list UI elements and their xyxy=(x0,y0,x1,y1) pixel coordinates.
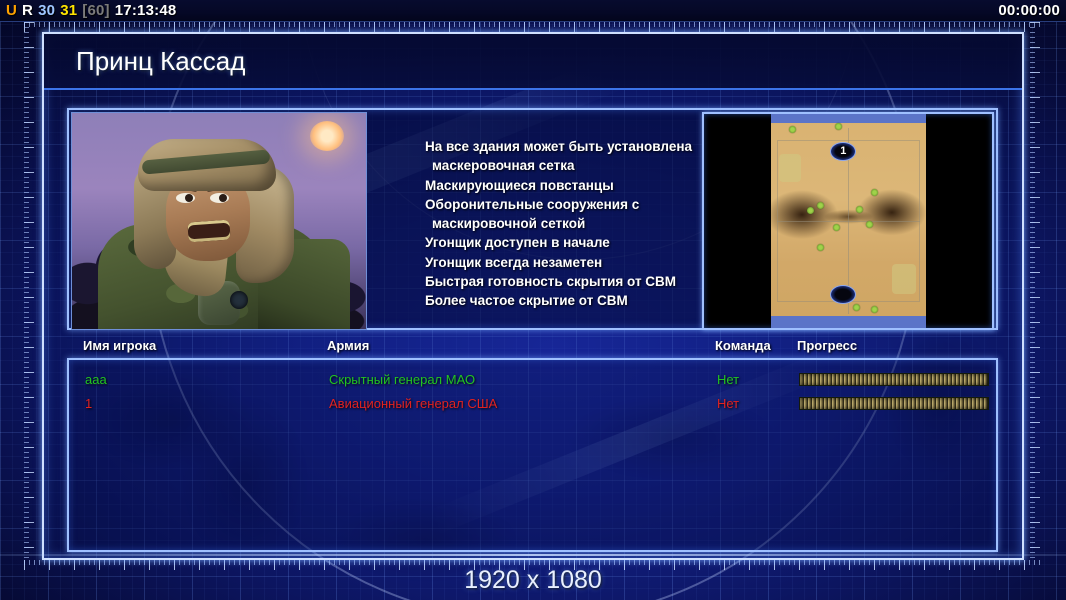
minimap-patch-1 xyxy=(779,154,801,182)
player-team[interactable]: Нет xyxy=(717,368,739,392)
description-line: Более частое скрытие от СВМ xyxy=(425,291,702,310)
game-lobby-screen: UR 30 31 [60] 17:13:48 00:00:00 Принц Ка… xyxy=(0,0,1066,600)
minimap-tree xyxy=(807,207,814,214)
player-army[interactable]: Скрытный генерал МАО xyxy=(329,368,475,392)
status-bar: UR 30 31 [60] 17:13:48 00:00:00 xyxy=(0,0,1066,22)
minimap-tree xyxy=(871,189,878,196)
general-portrait xyxy=(71,112,367,330)
player-team[interactable]: Нет xyxy=(717,392,739,416)
match-timer-group: 00:00:00 xyxy=(998,2,1060,19)
eye-right xyxy=(210,193,229,203)
player-army[interactable]: Авиационный генерал США xyxy=(329,392,497,416)
label-u: U xyxy=(6,2,17,19)
description-line: Быстрая готовность скрытия от СВМ xyxy=(425,272,702,291)
description-line: Угонщик доступен в начале xyxy=(425,233,702,252)
general-info-panel: На все здания может быть установленамаск… xyxy=(67,108,998,330)
system-clock: 17:13:48 xyxy=(115,2,177,19)
description-line: Угонщик всегда незаметен xyxy=(425,253,702,272)
ruler-left xyxy=(24,22,36,562)
table-row[interactable]: aaaСкрытный генерал МАОНет xyxy=(69,368,996,392)
pupil-right xyxy=(219,194,227,202)
minimap-road-horizontal xyxy=(777,221,920,222)
performance-readout: UR 30 31 [60] 17:13:48 xyxy=(6,2,176,19)
description-line: маскировочной сеткой xyxy=(425,214,702,233)
player-progress-bar xyxy=(799,397,989,410)
description-line: маскеровочная сетка xyxy=(425,156,702,175)
mouth xyxy=(187,220,230,243)
description-line: На все здания может быть установлена xyxy=(425,137,702,156)
column-header-progress: Прогресс xyxy=(797,338,857,353)
minimap-tree xyxy=(817,244,824,251)
minimap-tree xyxy=(856,206,863,213)
minimap-patch-2 xyxy=(892,264,916,294)
label-r: R xyxy=(22,2,33,19)
description-line: Оборонительные сооружения с xyxy=(425,195,702,214)
match-timer: 00:00:00 xyxy=(998,2,1060,19)
minimap-tree xyxy=(853,304,860,311)
sun-decor xyxy=(310,121,344,151)
ruler-right xyxy=(1030,22,1042,562)
page-title: Принц Кассад xyxy=(44,46,245,77)
eye-left xyxy=(176,193,195,203)
player-table-header: Имя игрока Армия Команда Прогресс xyxy=(67,338,998,358)
player-name: 1 xyxy=(85,392,92,416)
minimap-start-position[interactable]: 1 xyxy=(830,142,856,161)
player-table-body: aaaСкрытный генерал МАОНет1Авиационный г… xyxy=(67,358,998,552)
title-bar: Принц Кассад xyxy=(44,34,1022,90)
table-row[interactable]: 1Авиационный генерал СШАНет xyxy=(69,392,996,416)
minimap-tree xyxy=(817,202,824,209)
column-header-name: Имя игрока xyxy=(83,338,156,353)
minimap-tree xyxy=(833,224,840,231)
footer-divider xyxy=(0,554,1066,556)
player-progress-bar xyxy=(799,373,989,386)
fps-value: 30 xyxy=(38,2,55,19)
pupil-left xyxy=(185,194,193,202)
description-line: Маскирующиеся повстанцы xyxy=(425,176,702,195)
frame-current-value: 31 xyxy=(60,2,77,19)
minimap-tree xyxy=(871,306,878,313)
frame-max-value: [60] xyxy=(82,2,109,19)
minimap-container: 1 xyxy=(702,112,994,330)
minimap-tree xyxy=(866,221,873,228)
minimap-tree xyxy=(789,126,796,133)
minimap: 1 xyxy=(771,114,926,328)
general-description: На все здания может быть установленамаск… xyxy=(367,110,702,328)
resolution-label: 1920 x 1080 xyxy=(0,566,1066,595)
player-name: aaa xyxy=(85,368,107,392)
portrait-head xyxy=(132,139,280,271)
column-header-army: Армия xyxy=(327,338,369,353)
column-header-team: Команда xyxy=(715,338,771,353)
minimap-tree xyxy=(835,123,842,130)
